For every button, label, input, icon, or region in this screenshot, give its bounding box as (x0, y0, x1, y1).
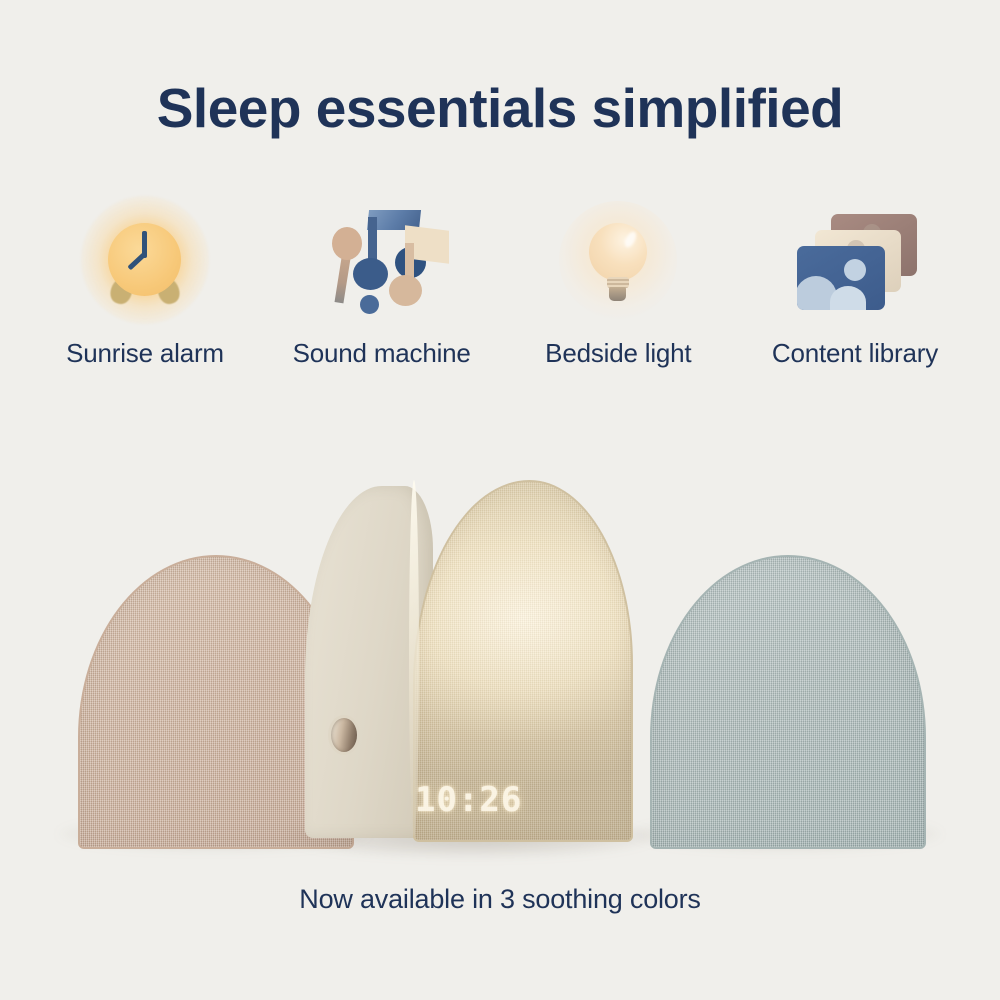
linen-texture-sage (652, 557, 924, 847)
feature-label-sunrise-alarm: Sunrise alarm (66, 338, 224, 369)
clock-display: 10:26 (415, 780, 522, 820)
page-title: Sleep essentials simplified (0, 78, 1000, 139)
music-notes-icon (317, 196, 447, 326)
feature-item-content-library: Content library (740, 196, 970, 369)
card-sun-icon (844, 259, 866, 281)
lightbulb-icon (553, 196, 683, 326)
lightbulb-base (609, 287, 626, 301)
feature-item-sound-machine: Sound machine (267, 196, 497, 369)
product-device-cream: 10:26 (305, 480, 635, 845)
device-dome-sage (650, 555, 926, 849)
device-side-button[interactable] (331, 718, 357, 752)
feature-label-sound-machine: Sound machine (293, 338, 471, 369)
feature-label-content-library: Content library (772, 338, 938, 369)
product-device-sage (650, 555, 922, 845)
music-notes-collage (319, 205, 445, 317)
product-caption: Now available in 3 soothing colors (0, 884, 1000, 915)
clock-time-text: 10:26 (415, 780, 522, 820)
lightbulb-group (558, 201, 678, 321)
card-hill-small-icon (830, 286, 866, 310)
sunrise-alarm-clock-icon (80, 196, 210, 326)
note-head-tan-left-icon (332, 227, 362, 260)
note-dot-icon (360, 295, 379, 314)
card-stack (793, 209, 917, 313)
media-cards-stack-icon (790, 196, 920, 326)
feature-list: Sunrise alarm Sound machine (30, 196, 970, 369)
note-head-blue-icon (353, 258, 388, 290)
library-card-front (797, 246, 885, 310)
product-showcase: 10:26 (0, 405, 1000, 845)
note-head-tan-right-icon (389, 275, 422, 306)
lightbulb-globe (589, 223, 647, 281)
feature-item-sunrise-alarm: Sunrise alarm (30, 196, 260, 369)
feature-label-bedside-light: Bedside light (545, 338, 691, 369)
device-body-cream: 10:26 (305, 480, 635, 845)
feature-item-bedside-light: Bedside light (503, 196, 733, 369)
